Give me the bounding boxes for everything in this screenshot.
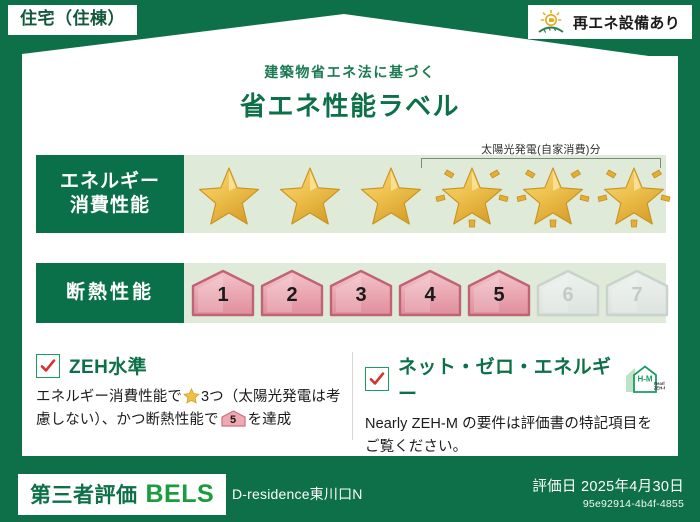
insulation-performance-row: 断熱性能 1234567 bbox=[36, 263, 666, 323]
zeh-standard-text: エネルギー消費性能で3つ（太陽光発電は考慮しない）、かつ断熱性能で5を達成 bbox=[36, 386, 346, 433]
svg-text:H-M: H-M bbox=[637, 375, 652, 384]
title-subtitle: 建築物省エネ法に基づく bbox=[22, 62, 678, 82]
renewable-badge-label: 再エネ設備あり bbox=[573, 12, 680, 33]
insulation-level-number: 4 bbox=[397, 284, 463, 307]
star-solar bbox=[514, 157, 592, 231]
insulation-level-5: 5 bbox=[466, 268, 532, 318]
star-base bbox=[352, 157, 430, 231]
star-icon bbox=[197, 166, 261, 226]
label-footer: 第三者評価 BELS D-residence東川口N 評価日 2025年4月30… bbox=[0, 462, 700, 522]
energy-row-label: エネルギー 消費性能 bbox=[36, 155, 184, 233]
star-solar bbox=[595, 157, 673, 231]
bels-chip: 第三者評価 BELS bbox=[18, 474, 226, 515]
sun-solar-icon bbox=[536, 9, 566, 35]
solar-note-text: 太陽光発電(自家消費)分 bbox=[421, 141, 661, 157]
zeh-standard-title: ZEH水準 bbox=[69, 352, 147, 379]
insulation-level-number: 1 bbox=[190, 284, 256, 307]
insulation-level-6: 6 bbox=[535, 268, 601, 318]
house-type-tag: 住宅（住棟） bbox=[8, 5, 137, 35]
insulation-level-number: 7 bbox=[604, 284, 670, 307]
svg-text:ZEH-M: ZEH-M bbox=[654, 386, 665, 391]
title-main: 省エネ性能ラベル bbox=[22, 86, 678, 123]
insulation-level-number: 2 bbox=[259, 284, 325, 307]
info-column-divider bbox=[352, 352, 353, 440]
star-rating-group bbox=[184, 157, 673, 231]
bels-jp-label: 第三者評価 bbox=[30, 479, 138, 509]
solar-contribution-annotation: 太陽光発電(自家消費)分 bbox=[421, 141, 661, 168]
star-base bbox=[271, 157, 349, 231]
star-icon bbox=[278, 166, 342, 226]
star-icon bbox=[359, 166, 423, 226]
bels-en-label: BELS bbox=[146, 480, 215, 509]
energy-label-line2: 消費性能 bbox=[70, 194, 150, 218]
zeh-text-part3: を達成 bbox=[248, 412, 292, 428]
insulation-level-1: 1 bbox=[190, 268, 256, 318]
net-zero-heading: ネット・ゼロ・エネルギー H-M Nearly ZEH-M bbox=[365, 352, 665, 406]
insulation-level-2: 2 bbox=[259, 268, 325, 318]
evaluation-date: 評価日 2025年4月30日 bbox=[532, 475, 684, 496]
star-sparkle-rays bbox=[595, 157, 673, 231]
evaluation-id: 95e92914-4b4f-4855 bbox=[532, 498, 684, 510]
insulation-level-glyph: 5 bbox=[221, 410, 246, 427]
check-icon bbox=[36, 354, 60, 378]
zeh-standard-section: ZEH水準 エネルギー消費性能で3つ（太陽光発電は考慮しない）、かつ断熱性能で5… bbox=[36, 352, 346, 433]
property-name: D-residence東川口N bbox=[232, 484, 363, 504]
footer-meta: 評価日 2025年4月30日 95e92914-4b4f-4855 bbox=[532, 475, 684, 510]
insulation-label: 断熱性能 bbox=[66, 281, 154, 305]
star-solar bbox=[433, 157, 511, 231]
star-base bbox=[190, 157, 268, 231]
insulation-level-number: 5 bbox=[466, 284, 532, 307]
insulation-level-7: 7 bbox=[604, 268, 670, 318]
insulation-level-3: 3 bbox=[328, 268, 394, 318]
net-zero-energy-section: ネット・ゼロ・エネルギー H-M Nearly ZEH-M Nearly ZEH… bbox=[365, 352, 665, 460]
insulation-level-group: 1234567 bbox=[184, 268, 670, 318]
insulation-level-number: 3 bbox=[328, 284, 394, 307]
insulation-row-label: 断熱性能 bbox=[36, 263, 184, 323]
insulation-level-glyph-value: 5 bbox=[221, 412, 246, 430]
net-zero-text: Nearly ZEH-M の要件は評価書の特記項目をご覧ください。 bbox=[365, 413, 665, 460]
net-zero-title: ネット・ゼロ・エネルギー bbox=[398, 352, 614, 406]
star-icon bbox=[183, 388, 200, 404]
insulation-level-number: 6 bbox=[535, 284, 601, 307]
energy-performance-row: エネルギー 消費性能 太陽光発電(自家消費)分 bbox=[36, 155, 666, 233]
insulation-row-body: 1234567 bbox=[184, 263, 670, 323]
insulation-level-4: 4 bbox=[397, 268, 463, 318]
energy-label-line1: エネルギー bbox=[60, 170, 160, 194]
nearly-zeh-m-logo: H-M Nearly ZEH-M bbox=[623, 364, 665, 394]
energy-row-body: 太陽光発電(自家消費)分 bbox=[184, 155, 673, 233]
check-icon bbox=[365, 367, 389, 391]
renewable-energy-badge: 再エネ設備あり bbox=[528, 5, 692, 39]
solar-bracket bbox=[421, 158, 661, 168]
star-sparkle-rays bbox=[514, 157, 592, 231]
energy-performance-label: 住宅（住棟） 再エネ設備あり 建築物省エネ法に基づく 省エネ性能ラベル bbox=[0, 0, 700, 522]
label-title-block: 建築物省エネ法に基づく 省エネ性能ラベル bbox=[22, 62, 678, 123]
zeh-standard-heading: ZEH水準 bbox=[36, 352, 346, 379]
zeh-text-part1: エネルギー消費性能で bbox=[36, 389, 182, 405]
star-sparkle-rays bbox=[433, 157, 511, 231]
